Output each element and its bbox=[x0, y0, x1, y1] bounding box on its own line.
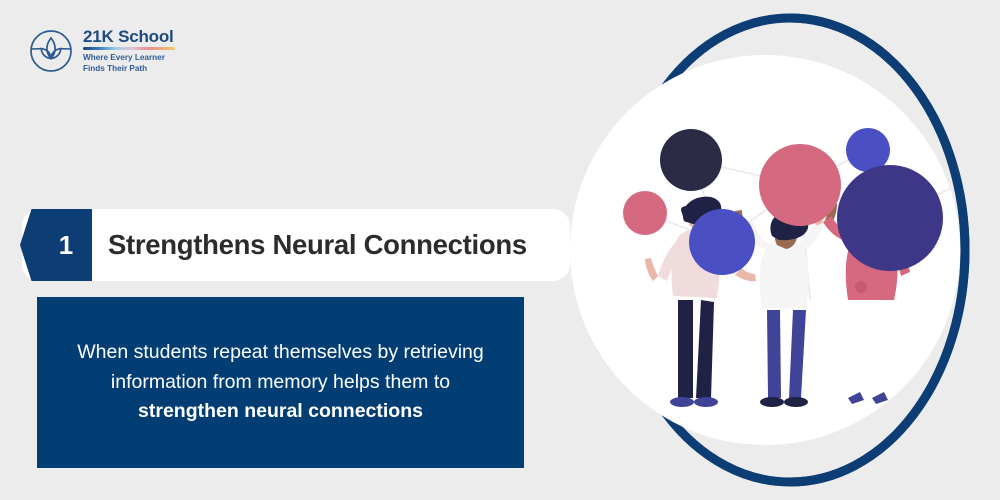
body-text-emphasis: strengthen neural connections bbox=[138, 400, 423, 422]
brand-logo-text: 21K School Where Every Learner Finds The… bbox=[83, 28, 175, 75]
body-text-normal: When students repeat themselves by retri… bbox=[77, 341, 483, 393]
people-holding-network-nodes-illustration bbox=[560, 0, 1000, 500]
body-text: When students repeat themselves by retri… bbox=[71, 338, 490, 427]
node-purple-large bbox=[837, 165, 943, 271]
node-blue-center bbox=[689, 209, 755, 275]
step-number: 1 bbox=[46, 209, 86, 281]
lotus-circle-icon bbox=[28, 28, 74, 74]
page-title: Strengthens Neural Connections bbox=[108, 209, 527, 281]
node-pink-center bbox=[759, 144, 841, 226]
brand-gradient-rule bbox=[83, 47, 175, 50]
node-pink-left bbox=[623, 191, 667, 235]
title-banner: 1 Strengthens Neural Connections bbox=[22, 209, 570, 281]
brand-tagline-line-1: Where Every Learner bbox=[83, 53, 165, 62]
brand-tagline-line-2: Finds Their Path bbox=[83, 64, 147, 73]
node-dark-upper-left bbox=[660, 129, 722, 191]
brand-logo[interactable]: 21K School Where Every Learner Finds The… bbox=[28, 28, 175, 75]
slide-canvas: 21K School Where Every Learner Finds The… bbox=[0, 0, 1000, 500]
node-blue-small-top bbox=[846, 128, 890, 172]
brand-name: 21K School bbox=[83, 28, 175, 45]
brand-tagline: Where Every Learner Finds Their Path bbox=[83, 53, 175, 75]
body-text-box: When students repeat themselves by retri… bbox=[37, 297, 524, 468]
